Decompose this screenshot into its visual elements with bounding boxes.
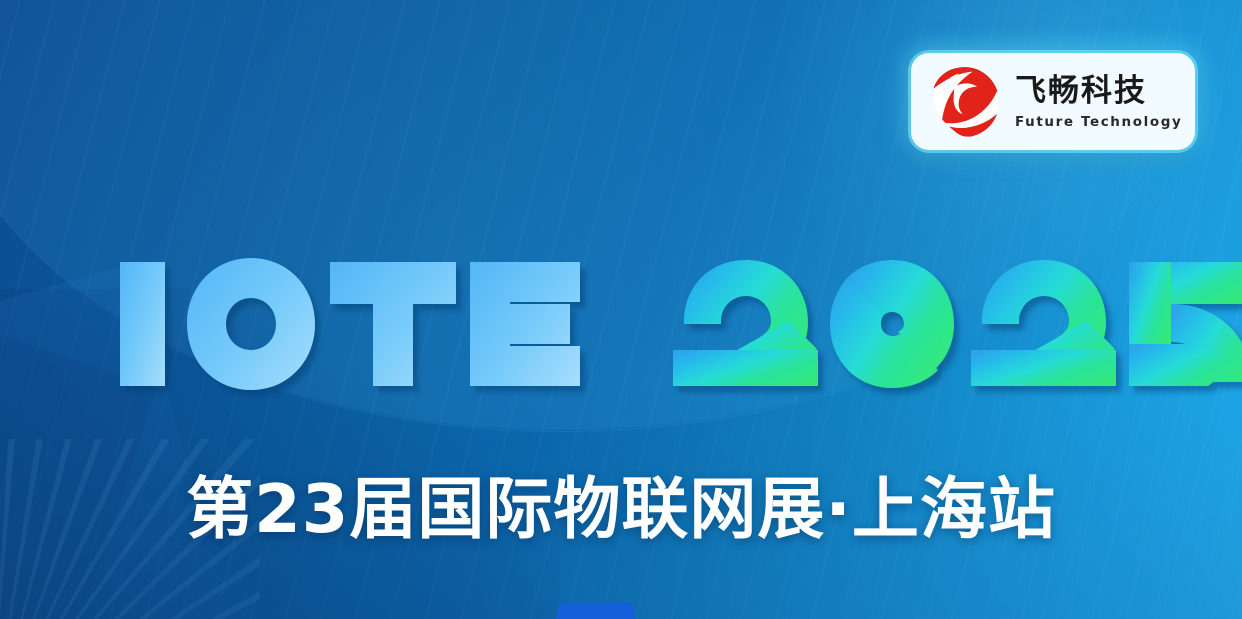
company-logo-text: 飞畅科技 Future Technology: [1015, 74, 1182, 130]
iote-2025-wordmark: [118, 258, 1083, 390]
background-bottom-chip: [556, 603, 636, 619]
feichang-logo-icon: [927, 64, 1003, 140]
company-name-en: Future Technology: [1015, 116, 1182, 130]
company-logo-card[interactable]: 飞畅科技 Future Technology: [911, 53, 1195, 150]
iote-2025-banner: 飞畅科技 Future Technology: [0, 0, 1242, 619]
company-name-cn: 飞畅科技: [1015, 76, 1182, 107]
event-subtitle: 第23届国际物联网展·上海站: [0, 455, 1242, 552]
